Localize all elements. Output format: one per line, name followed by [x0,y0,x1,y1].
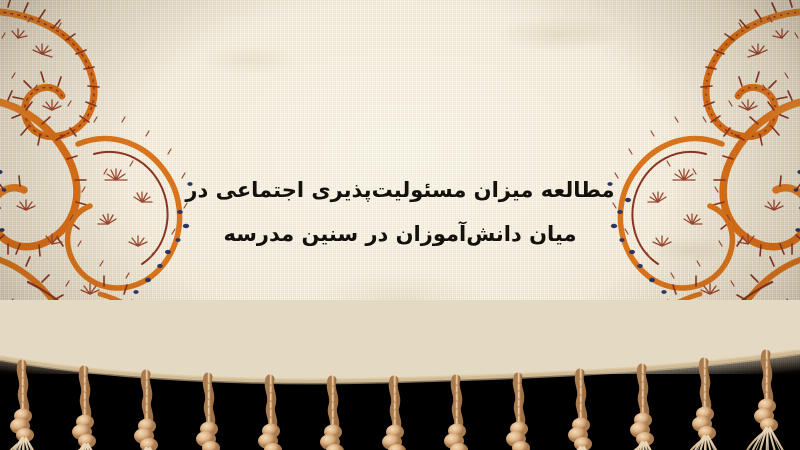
title-line-1: مطالعه میزان مسئولیت‌پذیری اجتماعی در [180,168,620,212]
black-backdrop [0,374,800,450]
title-card-canvas: مطالعه میزان مسئولیت‌پذیری اجتماعی در می… [0,0,800,450]
page-title: مطالعه میزان مسئولیت‌پذیری اجتماعی در می… [180,168,620,256]
title-line-2: میان دانش‌آموزان در سنین مدرسه [180,212,620,256]
